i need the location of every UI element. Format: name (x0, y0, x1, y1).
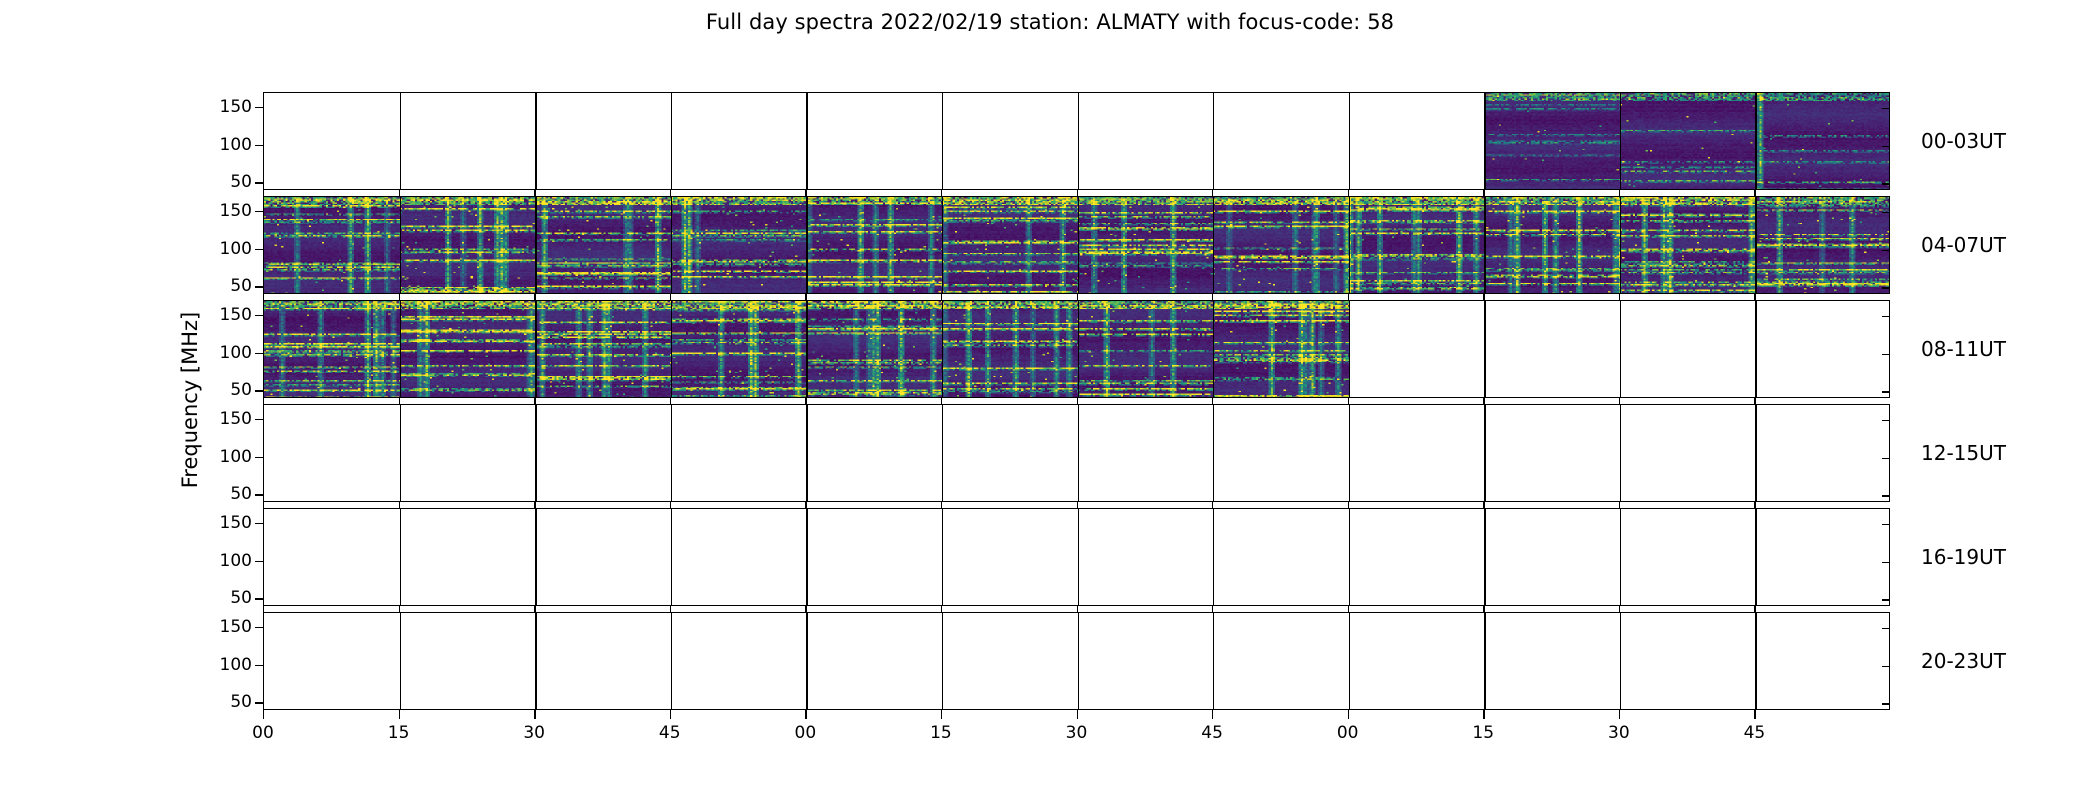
y-tick-label: 100 (220, 655, 252, 675)
y-tick-mark-right (1882, 146, 1889, 147)
segment-divider (671, 197, 672, 293)
segment-divider (806, 197, 807, 293)
y-tick-label: 150 (220, 617, 252, 637)
x-tick-mark (941, 710, 942, 719)
segment-divider (535, 301, 536, 397)
x-tick-label: 30 (523, 723, 545, 743)
segment-divider (806, 613, 807, 709)
spectrogram-image (264, 405, 1889, 501)
page-title: Full day spectra 2022/02/19 station: ALM… (0, 10, 2100, 34)
subplot-row-12-15ut[interactable]: 50100150 (263, 404, 1890, 502)
y-tick-mark-right (1882, 562, 1889, 563)
x-tick-mark (399, 710, 400, 719)
row-label-08-11ut: 08-11UT (1921, 337, 2006, 361)
y-tick-mark-right (1882, 628, 1889, 629)
plot-area[interactable] (263, 196, 1890, 294)
y-tick-mark-right (1882, 524, 1889, 525)
y-tick-label: 50 (230, 380, 252, 400)
x-tick-label: 45 (1744, 723, 1766, 743)
segment-divider (1078, 197, 1079, 293)
y-tick-mark (255, 353, 264, 354)
y-tick-mark (255, 702, 264, 703)
segment-divider (400, 405, 401, 501)
segment-divider (1213, 93, 1214, 189)
y-tick-mark (255, 390, 264, 391)
row-label-12-15ut: 12-15UT (1921, 441, 2006, 465)
segment-divider (1349, 509, 1350, 605)
y-tick-mark (255, 561, 264, 562)
y-tick-mark-right (1882, 458, 1889, 459)
x-tick-label: 00 (252, 723, 274, 743)
segment-divider (1755, 93, 1756, 189)
y-tick-label: 150 (220, 513, 252, 533)
x-tick-label: 00 (1337, 723, 1359, 743)
spectrogram-image (264, 509, 1889, 605)
segment-divider (1213, 613, 1214, 709)
segment-divider (942, 613, 943, 709)
plot-area[interactable] (263, 92, 1890, 190)
y-tick-mark-right (1882, 287, 1889, 288)
segment-divider (1078, 509, 1079, 605)
segment-divider (1620, 405, 1621, 501)
segment-divider (806, 93, 807, 189)
y-tick-mark (255, 523, 264, 524)
segment-divider (671, 93, 672, 189)
segment-divider (1213, 405, 1214, 501)
segment-divider (535, 509, 536, 605)
x-tick-label: 15 (1472, 723, 1494, 743)
y-tick-mark (255, 286, 264, 287)
y-tick-label: 50 (230, 484, 252, 504)
segment-divider (1349, 301, 1350, 397)
y-tick-label: 50 (230, 692, 252, 712)
y-tick-mark-right (1882, 250, 1889, 251)
x-tick-label: 45 (1201, 723, 1223, 743)
segment-divider (1078, 301, 1079, 397)
y-tick-mark (255, 419, 264, 420)
segment-divider (1213, 197, 1214, 293)
plot-area[interactable] (263, 300, 1890, 398)
y-tick-mark (255, 182, 264, 183)
x-tick-mark (263, 710, 264, 719)
plot-area[interactable] (263, 404, 1890, 502)
x-tick-mark (1619, 710, 1620, 719)
segment-divider (1484, 197, 1485, 293)
y-tick-mark-right (1882, 212, 1889, 213)
segment-divider (535, 405, 536, 501)
segment-divider (400, 197, 401, 293)
y-tick-mark (255, 211, 264, 212)
y-axis-label: Frequency [MHz] (178, 312, 202, 488)
segment-divider (400, 301, 401, 397)
segment-divider (806, 301, 807, 397)
y-tick-label: 100 (220, 447, 252, 467)
row-label-20-23ut: 20-23UT (1921, 649, 2006, 673)
segment-divider (1620, 509, 1621, 605)
spectrogram-image (264, 301, 1889, 397)
segment-divider (671, 301, 672, 397)
row-label-00-03ut: 00-03UT (1921, 129, 2006, 153)
x-tick-mark (534, 710, 535, 719)
segment-divider (942, 197, 943, 293)
segment-divider (806, 405, 807, 501)
y-tick-mark-right (1882, 495, 1889, 496)
x-tick-mark (1348, 710, 1349, 719)
y-tick-mark (255, 145, 264, 146)
segment-divider (535, 613, 536, 709)
segment-divider (1349, 613, 1350, 709)
y-tick-label: 100 (220, 551, 252, 571)
segment-divider (1484, 405, 1485, 501)
subplot-row-20-23ut[interactable]: 50100150001530450015304500153045 (263, 612, 1890, 710)
subplot-row-08-11ut[interactable]: 50100150 (263, 300, 1890, 398)
segment-divider (1213, 301, 1214, 397)
segment-divider (1755, 197, 1756, 293)
y-tick-label: 150 (220, 201, 252, 221)
plot-area[interactable] (263, 612, 1890, 710)
subplot-row-00-03ut[interactable]: 50100150 (263, 92, 1890, 190)
y-tick-label: 150 (220, 305, 252, 325)
segment-divider (1620, 93, 1621, 189)
x-tick-mark (1077, 710, 1078, 719)
spectrogram-image (264, 197, 1889, 293)
segment-divider (1213, 509, 1214, 605)
spectrogram-image (264, 93, 1889, 189)
segment-divider (1755, 509, 1756, 605)
segment-divider (1755, 613, 1756, 709)
row-label-04-07ut: 04-07UT (1921, 233, 2006, 257)
segment-divider (1078, 613, 1079, 709)
segment-divider (671, 509, 672, 605)
x-tick-mark (1483, 710, 1484, 719)
segment-divider (671, 613, 672, 709)
segment-divider (942, 301, 943, 397)
segment-divider (1755, 301, 1756, 397)
segment-divider (1484, 509, 1485, 605)
figure-root: Full day spectra 2022/02/19 station: ALM… (0, 0, 2100, 800)
segment-divider (535, 197, 536, 293)
segment-divider (942, 509, 943, 605)
segment-divider (1484, 93, 1485, 189)
y-tick-mark-right (1882, 703, 1889, 704)
x-tick-mark (805, 710, 806, 719)
y-tick-mark (255, 249, 264, 250)
spectrogram-image (264, 613, 1889, 709)
x-tick-mark (670, 710, 671, 719)
segment-divider (400, 93, 401, 189)
x-tick-label: 45 (659, 723, 681, 743)
y-tick-mark (255, 627, 264, 628)
y-tick-mark-right (1882, 354, 1889, 355)
y-tick-mark-right (1882, 108, 1889, 109)
y-tick-label: 50 (230, 588, 252, 608)
y-tick-label: 100 (220, 135, 252, 155)
segment-divider (400, 613, 401, 709)
y-tick-mark-right (1882, 420, 1889, 421)
segment-divider (806, 509, 807, 605)
segment-divider (1349, 93, 1350, 189)
segment-divider (1078, 405, 1079, 501)
segment-divider (1755, 405, 1756, 501)
segment-divider (1078, 93, 1079, 189)
row-label-16-19ut: 16-19UT (1921, 545, 2006, 569)
y-tick-mark-right (1882, 183, 1889, 184)
x-tick-mark (1754, 710, 1755, 719)
subplot-row-04-07ut[interactable]: 50100150 (263, 196, 1890, 294)
subplot-row-16-19ut[interactable]: 50100150 (263, 508, 1890, 606)
y-tick-mark-right (1882, 666, 1889, 667)
segment-divider (1349, 197, 1350, 293)
y-tick-mark-right (1882, 391, 1889, 392)
y-tick-mark (255, 107, 264, 108)
y-tick-mark (255, 665, 264, 666)
x-tick-label: 00 (795, 723, 817, 743)
segment-divider (1484, 301, 1485, 397)
segment-divider (942, 405, 943, 501)
y-tick-label: 100 (220, 239, 252, 259)
segment-divider (942, 93, 943, 189)
y-tick-label: 50 (230, 172, 252, 192)
segment-divider (1620, 613, 1621, 709)
segment-divider (400, 509, 401, 605)
y-tick-mark (255, 494, 264, 495)
segment-divider (671, 405, 672, 501)
y-tick-mark-right (1882, 316, 1889, 317)
x-tick-mark (1212, 710, 1213, 719)
segment-divider (535, 93, 536, 189)
y-tick-mark (255, 457, 264, 458)
y-tick-label: 150 (220, 97, 252, 117)
x-tick-label: 30 (1066, 723, 1088, 743)
segment-divider (1620, 197, 1621, 293)
segment-divider (1620, 301, 1621, 397)
y-tick-mark (255, 598, 264, 599)
segment-divider (1349, 405, 1350, 501)
y-tick-label: 50 (230, 276, 252, 296)
x-tick-label: 15 (388, 723, 410, 743)
x-tick-label: 30 (1608, 723, 1630, 743)
y-tick-label: 150 (220, 409, 252, 429)
segment-divider (1484, 613, 1485, 709)
y-tick-mark-right (1882, 599, 1889, 600)
x-tick-label: 15 (930, 723, 952, 743)
y-tick-mark (255, 315, 264, 316)
plot-area[interactable] (263, 508, 1890, 606)
y-tick-label: 100 (220, 343, 252, 363)
